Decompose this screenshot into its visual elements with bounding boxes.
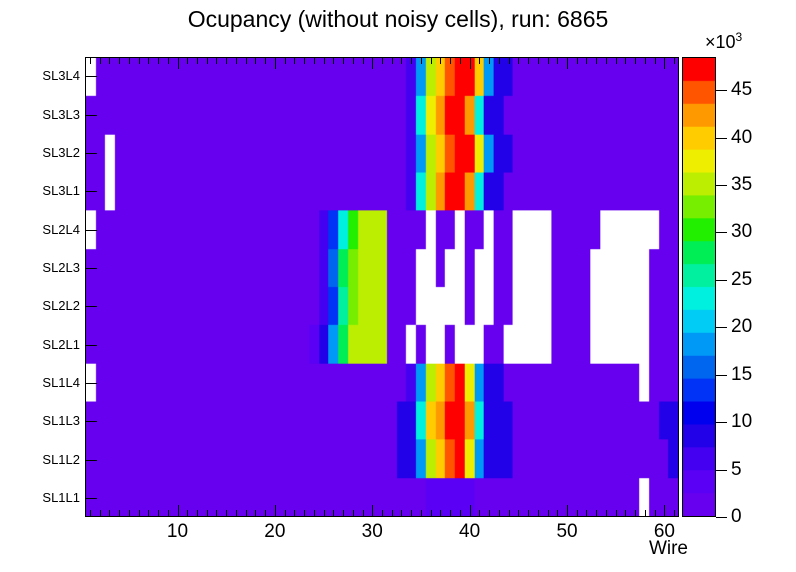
x-tick-minor xyxy=(421,57,422,64)
z-tick-label: 5 xyxy=(731,459,742,481)
z-tick-label: 25 xyxy=(731,269,752,291)
x-tick-minor xyxy=(158,57,159,64)
y-tick-label: SL1L2 xyxy=(20,452,80,467)
x-tick-minor xyxy=(625,510,626,517)
x-tick-minor xyxy=(518,57,519,64)
x-tick-minor xyxy=(450,57,451,64)
x-tick-minor xyxy=(255,510,256,517)
z-tick xyxy=(716,185,727,186)
x-tick-minor xyxy=(187,57,188,64)
x-tick-minor xyxy=(353,57,354,64)
x-tick-minor xyxy=(363,57,364,64)
color-bar-gradient xyxy=(683,58,715,516)
x-tick-minor xyxy=(421,510,422,517)
y-tick xyxy=(85,76,97,77)
y-tick xyxy=(85,153,97,154)
x-tick-minor xyxy=(450,510,451,517)
x-tick-minor xyxy=(187,510,188,517)
x-tick-minor xyxy=(314,57,315,64)
z-tick-label: 10 xyxy=(731,411,752,433)
x-tick-minor xyxy=(207,57,208,64)
x-tick-minor xyxy=(635,510,636,517)
x-tick-minor xyxy=(148,57,149,64)
x-tick-minor xyxy=(90,57,91,64)
x-tick-major xyxy=(372,57,373,69)
x-tick-label: 10 xyxy=(153,521,203,543)
x-tick-label: 40 xyxy=(445,521,495,543)
x-tick-minor xyxy=(606,57,607,64)
root-canvas: Ocupancy (without noisy cells), run: 686… xyxy=(0,0,796,572)
x-tick-minor xyxy=(518,510,519,517)
x-tick-minor xyxy=(499,57,500,64)
y-tick-label: SL3L4 xyxy=(20,68,80,83)
y-tick-label: SL2L1 xyxy=(20,337,80,352)
page-title: Ocupancy (without noisy cells), run: 686… xyxy=(0,6,796,33)
z-tick xyxy=(716,90,727,91)
color-bar-exponent: ×103 xyxy=(705,30,742,53)
x-tick-minor xyxy=(655,510,656,517)
x-tick-minor xyxy=(294,510,295,517)
x-tick-minor xyxy=(431,57,432,64)
x-tick-minor xyxy=(129,510,130,517)
x-tick-minor xyxy=(216,57,217,64)
y-tick-label: SL2L2 xyxy=(20,298,80,313)
x-tick-minor xyxy=(548,510,549,517)
x-tick-minor xyxy=(528,57,529,64)
z-tick-label: 15 xyxy=(731,364,752,386)
x-tick-minor xyxy=(548,57,549,64)
x-tick-minor xyxy=(577,57,578,64)
x-tick-label: 20 xyxy=(250,521,300,543)
x-tick-minor xyxy=(236,510,237,517)
x-tick-minor xyxy=(616,57,617,64)
y-tick-label: SL1L4 xyxy=(20,375,80,390)
x-tick-minor xyxy=(246,57,247,64)
x-tick-minor xyxy=(586,57,587,64)
x-tick-minor xyxy=(197,57,198,64)
z-tick-label: 20 xyxy=(731,316,752,338)
x-tick-minor xyxy=(333,57,334,64)
z-tick xyxy=(716,280,727,281)
y-tick-label: SL1L3 xyxy=(20,413,80,428)
x-tick-minor xyxy=(382,57,383,64)
z-tick xyxy=(716,375,727,376)
y-tick xyxy=(85,115,97,116)
y-tick-label: SL3L3 xyxy=(20,107,80,122)
x-tick-major xyxy=(275,505,276,517)
x-tick-minor xyxy=(333,510,334,517)
y-tick xyxy=(85,460,97,461)
x-tick-minor xyxy=(168,510,169,517)
x-tick-minor xyxy=(197,510,198,517)
x-tick-minor xyxy=(139,510,140,517)
x-tick-minor xyxy=(616,510,617,517)
z-tick xyxy=(716,327,727,328)
x-tick-minor xyxy=(139,57,140,64)
x-tick-minor xyxy=(246,510,247,517)
x-tick-minor xyxy=(460,510,461,517)
x-tick-minor xyxy=(119,510,120,517)
x-tick-minor xyxy=(479,57,480,64)
x-tick-minor xyxy=(460,57,461,64)
x-tick-minor xyxy=(304,57,305,64)
x-tick-minor xyxy=(226,57,227,64)
x-tick-label: 30 xyxy=(347,521,397,543)
x-tick-minor xyxy=(236,57,237,64)
x-tick-minor xyxy=(674,510,675,517)
x-tick-minor xyxy=(207,510,208,517)
x-tick-minor xyxy=(596,57,597,64)
x-tick-minor xyxy=(100,510,101,517)
x-tick-minor xyxy=(635,57,636,64)
y-tick xyxy=(85,345,97,346)
x-tick-minor xyxy=(392,57,393,64)
y-tick xyxy=(85,306,97,307)
x-tick-minor xyxy=(285,510,286,517)
x-tick-minor xyxy=(314,510,315,517)
x-tick-minor xyxy=(168,57,169,64)
x-tick-major xyxy=(275,57,276,69)
x-tick-minor xyxy=(119,57,120,64)
heatmap-plot-area[interactable] xyxy=(85,57,679,517)
y-tick xyxy=(85,268,97,269)
y-tick xyxy=(85,191,97,192)
x-tick-minor xyxy=(411,57,412,64)
x-tick-minor xyxy=(645,510,646,517)
x-tick-minor xyxy=(265,57,266,64)
z-tick xyxy=(716,232,727,233)
x-tick-minor xyxy=(440,510,441,517)
z-tick xyxy=(716,422,727,423)
y-tick-label: SL1L1 xyxy=(20,490,80,505)
y-tick xyxy=(85,230,97,231)
x-tick-minor xyxy=(596,510,597,517)
x-tick-minor xyxy=(226,510,227,517)
x-tick-minor xyxy=(655,57,656,64)
x-tick-minor xyxy=(645,57,646,64)
x-tick-major xyxy=(178,57,179,69)
x-tick-minor xyxy=(392,510,393,517)
x-tick-minor xyxy=(606,510,607,517)
x-tick-minor xyxy=(304,510,305,517)
z-tick xyxy=(716,138,727,139)
x-tick-minor xyxy=(411,510,412,517)
x-tick-minor xyxy=(255,57,256,64)
x-tick-minor xyxy=(577,510,578,517)
x-tick-minor xyxy=(479,510,480,517)
y-tick xyxy=(85,498,97,499)
x-tick-major xyxy=(470,505,471,517)
x-tick-minor xyxy=(324,57,325,64)
x-tick-minor xyxy=(109,510,110,517)
x-tick-minor xyxy=(509,57,510,64)
y-tick xyxy=(85,421,97,422)
x-tick-minor xyxy=(129,57,130,64)
y-tick-label: SL3L1 xyxy=(20,183,80,198)
x-tick-minor xyxy=(538,510,539,517)
x-tick-minor xyxy=(343,57,344,64)
x-tick-major xyxy=(567,57,568,69)
x-tick-minor xyxy=(489,510,490,517)
x-tick-minor xyxy=(625,57,626,64)
x-tick-major xyxy=(178,505,179,517)
x-tick-minor xyxy=(509,510,510,517)
x-tick-minor xyxy=(538,57,539,64)
x-tick-minor xyxy=(109,57,110,64)
x-tick-minor xyxy=(265,510,266,517)
x-tick-minor xyxy=(431,510,432,517)
y-tick-label: SL2L3 xyxy=(20,260,80,275)
z-tick-label: 35 xyxy=(731,174,752,196)
z-tick xyxy=(716,470,727,471)
z-tick xyxy=(716,517,727,518)
z-exponent-power: 3 xyxy=(736,30,743,44)
x-tick-minor xyxy=(528,510,529,517)
z-tick-label: 0 xyxy=(731,506,742,528)
x-tick-minor xyxy=(100,57,101,64)
x-tick-minor xyxy=(294,57,295,64)
y-tick xyxy=(85,383,97,384)
x-tick-minor xyxy=(324,510,325,517)
x-tick-minor xyxy=(401,57,402,64)
x-tick-label: 50 xyxy=(542,521,592,543)
z-tick-label: 30 xyxy=(731,221,752,243)
x-tick-minor xyxy=(557,57,558,64)
x-tick-minor xyxy=(586,510,587,517)
x-tick-major xyxy=(470,57,471,69)
z-exponent-base: ×10 xyxy=(705,32,736,52)
x-tick-minor xyxy=(557,510,558,517)
x-tick-minor xyxy=(499,510,500,517)
x-tick-minor xyxy=(401,510,402,517)
x-tick-minor xyxy=(489,57,490,64)
x-tick-minor xyxy=(343,510,344,517)
y-tick-label: SL3L2 xyxy=(20,145,80,160)
x-tick-minor xyxy=(216,510,217,517)
x-tick-minor xyxy=(90,510,91,517)
x-tick-minor xyxy=(382,510,383,517)
x-tick-minor xyxy=(353,510,354,517)
z-tick-label: 45 xyxy=(731,79,752,101)
x-tick-minor xyxy=(674,57,675,64)
x-tick-major xyxy=(664,505,665,517)
color-bar[interactable] xyxy=(682,57,716,517)
heatmap-cells[interactable] xyxy=(86,58,678,516)
x-tick-minor xyxy=(440,57,441,64)
x-tick-major xyxy=(372,505,373,517)
x-tick-minor xyxy=(363,510,364,517)
x-tick-minor xyxy=(148,510,149,517)
z-tick-label: 40 xyxy=(731,127,752,149)
x-tick-major xyxy=(664,57,665,69)
x-tick-minor xyxy=(158,510,159,517)
x-tick-major xyxy=(567,505,568,517)
x-tick-minor xyxy=(285,57,286,64)
y-tick-label: SL2L4 xyxy=(20,222,80,237)
x-axis-title: Wire xyxy=(649,538,688,560)
